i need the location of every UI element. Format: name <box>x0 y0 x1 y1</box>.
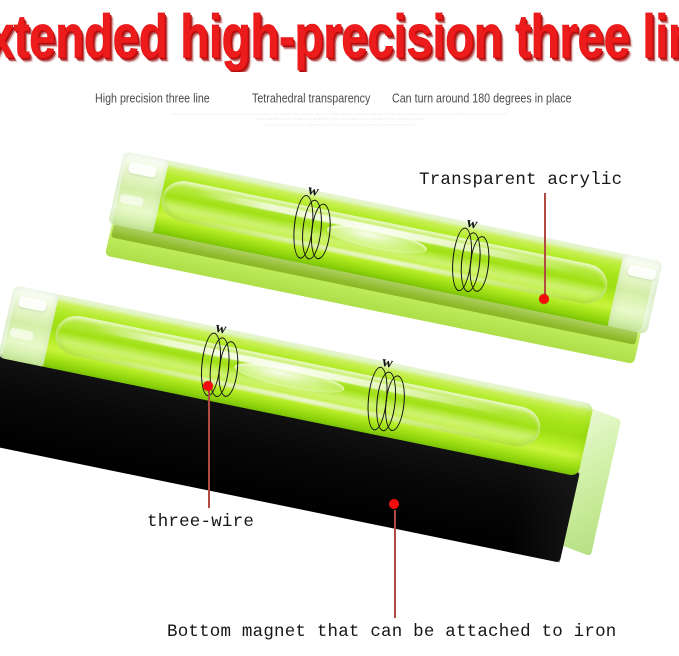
cap-notch <box>18 296 48 312</box>
callout-label-transparent-acrylic: Transparent acrylic <box>419 170 622 190</box>
cap-notch <box>9 327 34 341</box>
callout-dot-three-wire <box>203 381 213 391</box>
feature-item-precision: High precision three line <box>95 92 210 105</box>
product-photo: w w <box>0 136 679 606</box>
feature-list: High precision three line Tetrahedral tr… <box>0 88 679 110</box>
upper-end-cap-right <box>608 254 663 334</box>
cap-notch <box>627 264 657 280</box>
title-banner: Extended high-precision three line <box>0 0 679 72</box>
feature-item-transparency: Tetrahedral transparency <box>252 92 370 105</box>
fineprint-line-3: PLEASE READ CAREFULLY BEFORE USE TO GUAR… <box>0 123 679 128</box>
cap-notch <box>128 162 158 178</box>
callout-leader-bottom-magnet <box>394 510 396 618</box>
upper-end-cap-left <box>108 151 169 232</box>
callout-leader-three-wire <box>208 388 210 508</box>
lower-end-cap-left <box>0 285 59 366</box>
page-title: Extended high-precision three line <box>0 5 679 67</box>
callout-leader-transparent-acrylic <box>544 193 546 298</box>
product-banner: Extended high-precision three line High … <box>0 0 679 656</box>
cap-notch <box>119 193 144 207</box>
feature-item-rotation: Can turn around 180 degrees in place <box>392 92 572 105</box>
callout-dot-bottom-magnet <box>389 499 399 509</box>
callout-label-bottom-magnet: Bottom magnet that can be attached to ir… <box>167 622 616 642</box>
callout-dot-transparent-acrylic <box>539 294 549 304</box>
callout-label-three-wire: three-wire <box>147 512 254 532</box>
fineprint-watermark: TRANSPARENCY DESIGN WITH PRECISION SPIRI… <box>0 112 679 128</box>
